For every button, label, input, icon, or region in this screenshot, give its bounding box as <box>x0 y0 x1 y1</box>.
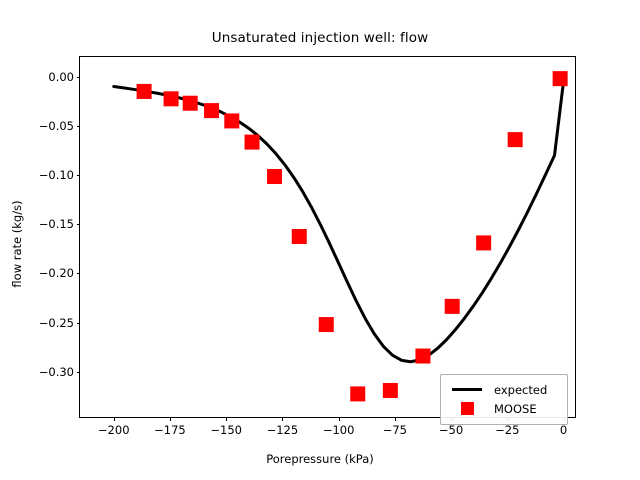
x-tick-mark <box>339 417 340 421</box>
moose-data-point <box>292 229 307 244</box>
moose-data-point <box>415 349 430 364</box>
x-tick-mark <box>395 417 396 421</box>
moose-data-point <box>350 386 365 401</box>
x-tick-mark <box>226 417 227 421</box>
y-tick-label: −0.10 <box>39 168 74 182</box>
legend-entry-moose: MOOSE <box>447 399 561 418</box>
moose-data-point <box>319 317 334 332</box>
moose-data-point <box>224 113 239 128</box>
expected-line-series <box>114 82 564 362</box>
y-tick-mark <box>77 77 81 78</box>
legend-box: expected MOOSE <box>440 374 568 425</box>
y-tick-label: −0.15 <box>39 217 74 231</box>
x-tick-label: −100 <box>323 423 355 437</box>
x-tick-mark <box>114 417 115 421</box>
moose-data-point <box>267 169 282 184</box>
y-tick-mark <box>77 323 81 324</box>
plot-svg <box>80 57 575 417</box>
y-tick-label: −0.05 <box>39 119 74 133</box>
x-tick-label: −50 <box>439 423 463 437</box>
x-tick-mark <box>170 417 171 421</box>
moose-data-point <box>553 71 568 86</box>
y-tick-mark <box>77 273 81 274</box>
legend-square-key-icon <box>447 402 487 415</box>
y-tick-label: −0.30 <box>39 365 74 379</box>
x-tick-label: −125 <box>267 423 299 437</box>
moose-marker-series <box>137 71 568 401</box>
moose-data-point <box>476 235 491 250</box>
plot-area <box>80 57 575 417</box>
legend-entry-expected: expected <box>447 380 561 399</box>
y-tick-mark <box>77 126 81 127</box>
x-axis-label: Porepressure (kPa) <box>0 452 640 466</box>
y-tick-mark <box>77 224 81 225</box>
moose-data-point <box>445 299 460 314</box>
moose-data-point <box>204 103 219 118</box>
legend-label-moose: MOOSE <box>494 402 537 416</box>
legend-label-expected: expected <box>494 383 547 397</box>
y-axis-label: flow rate (kg/s) <box>10 144 24 344</box>
y-tick-label: −0.20 <box>39 266 74 280</box>
y-tick-mark <box>77 372 81 373</box>
y-tick-label: −0.25 <box>39 316 74 330</box>
x-tick-label: 0 <box>560 423 567 437</box>
figure-canvas: Unsaturated injection well: flow −200−17… <box>0 0 640 480</box>
x-tick-mark <box>282 417 283 421</box>
moose-data-point <box>245 135 260 150</box>
x-tick-label: −175 <box>154 423 186 437</box>
x-tick-label: −150 <box>210 423 242 437</box>
moose-data-point <box>164 91 179 106</box>
plot-axes: −200−175−150−125−100−75−50−250 0.00−0.05… <box>79 56 576 418</box>
legend-line-key-icon <box>447 388 487 391</box>
moose-data-point <box>508 132 523 147</box>
y-tick-mark <box>77 175 81 176</box>
x-tick-label: −75 <box>383 423 407 437</box>
y-tick-label: 0.00 <box>48 70 74 84</box>
chart-title: Unsaturated injection well: flow <box>0 30 640 46</box>
x-tick-label: −200 <box>98 423 130 437</box>
moose-data-point <box>137 84 152 99</box>
moose-data-point <box>183 96 198 111</box>
moose-data-point <box>383 383 398 398</box>
x-tick-label: −25 <box>495 423 519 437</box>
